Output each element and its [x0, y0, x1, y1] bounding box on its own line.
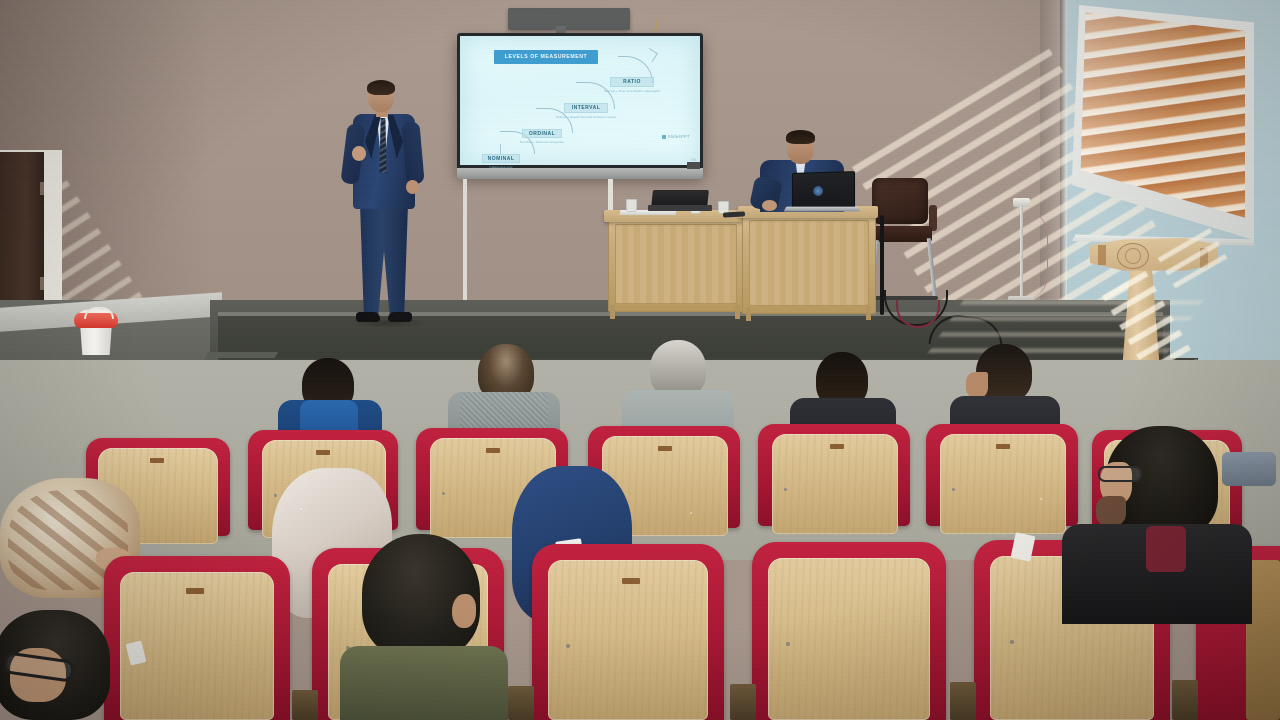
presenter-hand — [352, 146, 366, 161]
waste-bin-handle — [84, 307, 114, 319]
presenter-shoe — [356, 312, 380, 322]
desk-leg — [610, 305, 615, 319]
slide-node-interval-sub: Ordinal + Equal intervals between values — [553, 115, 619, 120]
desk-leg — [735, 305, 740, 319]
door-hinge-icon — [40, 182, 44, 195]
eyeglasses-icon — [1098, 466, 1142, 482]
audience-collar — [1146, 526, 1186, 572]
desk-leg — [866, 306, 871, 320]
slide-node-nominal: NOMINAL — [482, 154, 520, 163]
slide-logo-text: SlidesPPT — [668, 134, 690, 139]
slide-surface: LEVELS OF MEASUREMENT NOMINAL Categories… — [460, 36, 700, 165]
audience-ear — [452, 594, 476, 628]
seat-pedestal — [1172, 680, 1198, 720]
podium-emblem-inner-icon — [1125, 248, 1141, 264]
seat-pedestal — [292, 690, 318, 720]
laptop-open-screen[interactable] — [792, 171, 855, 211]
lecture-hall-scene: LEVELS OF MEASUREMENT NOMINAL Categories… — [0, 0, 1280, 720]
slide-arrow-head-icon — [644, 48, 658, 62]
desk-leg — [746, 307, 751, 321]
microphone-cable — [1023, 210, 1048, 300]
laptop-open-keyboard[interactable] — [784, 207, 861, 212]
desk-left — [608, 218, 744, 312]
podium-trim — [1098, 245, 1106, 265]
slide-logo: SlidesPPT — [662, 134, 690, 139]
presenter-hair — [367, 80, 395, 95]
laptop-logo-icon — [813, 186, 823, 196]
slide-title: LEVELS OF MEASUREMENT — [494, 50, 598, 64]
seat-pedestal — [508, 686, 534, 720]
slide-stem-1 — [500, 144, 501, 154]
wall-cable-conduit — [463, 179, 467, 307]
desk-right-panel — [749, 220, 869, 306]
screen-tray — [457, 168, 703, 179]
microphone-pole — [1020, 205, 1023, 300]
desk-right — [742, 214, 876, 314]
screen-tray-tab — [687, 162, 700, 169]
operator-hair — [786, 130, 815, 144]
slide-logo-icon — [662, 135, 666, 139]
seat-headrest-right — [1222, 452, 1276, 486]
desk-left-panel — [615, 224, 737, 304]
presenter-hand — [406, 180, 419, 194]
audience-face-profile — [966, 372, 988, 398]
presenter-shoe — [388, 312, 412, 322]
slide-node-ordinal-sub: Nominal + Ordered categories — [509, 140, 575, 145]
audience-shirt — [340, 646, 508, 720]
laptop-closed-base — [648, 205, 712, 211]
seat-pedestal — [730, 684, 756, 720]
audience-beard — [1096, 496, 1126, 526]
door-hinge-icon — [40, 277, 44, 290]
slide-node-ratio: RATIO — [610, 77, 654, 87]
seat-pedestal — [950, 682, 976, 720]
slide-node-ratio-sub: Interval + True zero Ratios meaningful — [599, 89, 665, 94]
glass-cup — [626, 199, 637, 212]
projection-screen[interactable]: LEVELS OF MEASUREMENT NOMINAL Categories… — [457, 33, 703, 175]
slide-node-ordinal: ORDINAL — [522, 129, 562, 138]
operator-hand — [762, 200, 777, 211]
slide-node-interval: INTERVAL — [564, 103, 608, 113]
